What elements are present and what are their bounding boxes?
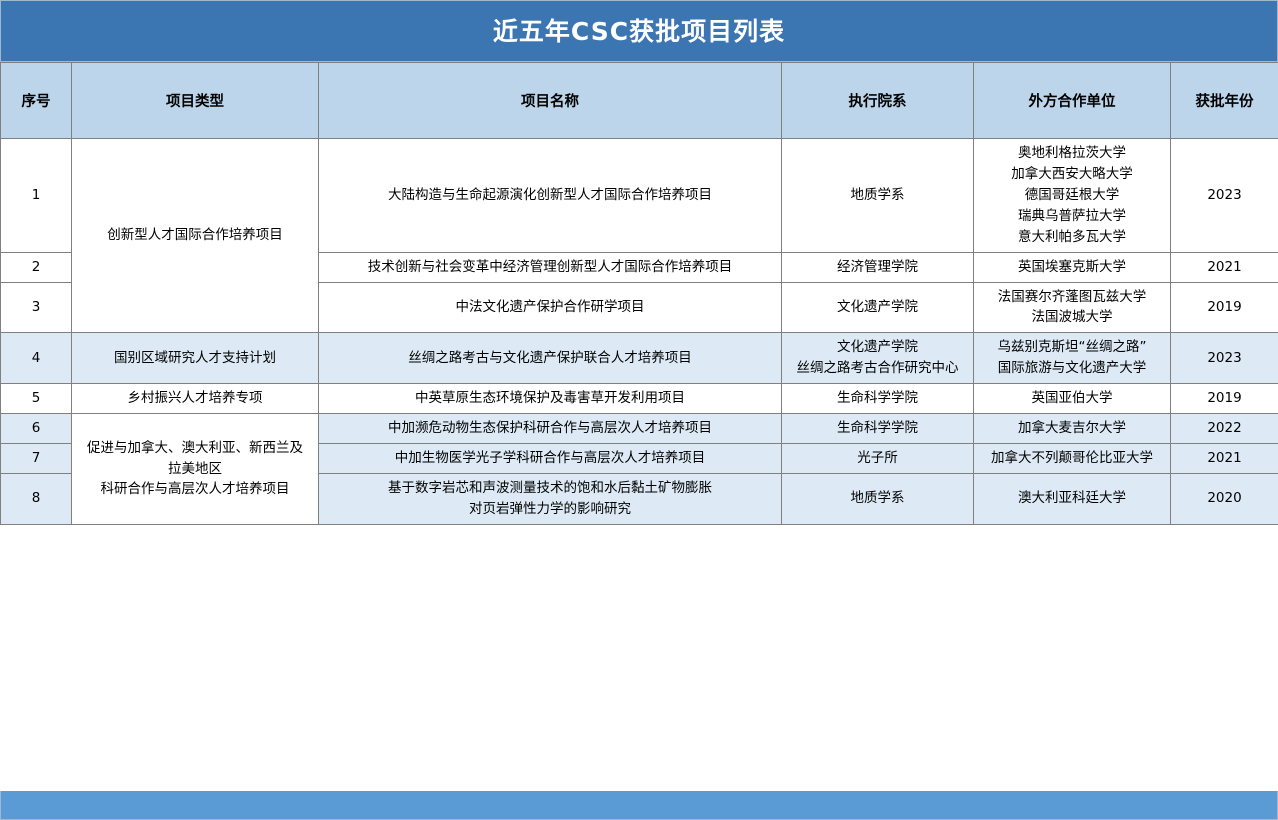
table-row: 1创新型人才国际合作培养项目大陆构造与生命起源演化创新型人才国际合作培养项目地质… (1, 139, 1278, 253)
cell-project-name-text: 中加濒危动物生态保护科研合作与高层次人才培养项目 (388, 420, 712, 436)
cell-partner: 法国赛尔齐蓬图瓦兹大学 法国波城大学 (974, 282, 1171, 333)
cell-department-text: 地质学系 (851, 490, 905, 506)
cell-year-text: 2023 (1207, 350, 1241, 366)
table-header: 序号 项目类型 项目名称 执行院系 外方合作单位 获批年份 (1, 63, 1278, 139)
cell-project-name: 大陆构造与生命起源演化创新型人才国际合作培养项目 (319, 139, 782, 253)
column-header-name: 项目名称 (319, 63, 782, 139)
cell-partner: 澳大利亚科廷大学 (974, 473, 1171, 524)
cell-project-name: 中加生物医学光子学科研合作与高层次人才培养项目 (319, 444, 782, 474)
cell-partner: 英国埃塞克斯大学 (974, 252, 1171, 282)
cell-project-name-text: 中加生物医学光子学科研合作与高层次人才培养项目 (395, 450, 706, 466)
cell-department-text: 生命科学学院 (837, 420, 918, 436)
cell-project-name-text: 中英草原生态环境保护及毒害草开发利用项目 (415, 390, 685, 406)
cell-partner: 乌兹别克斯坦“丝绸之路” 国际旅游与文化遗产大学 (974, 333, 1171, 384)
cell-department-text: 经济管理学院 (837, 259, 918, 275)
header-row: 序号 项目类型 项目名称 执行院系 外方合作单位 获批年份 (1, 63, 1278, 139)
cell-partner-text: 加拿大麦吉尔大学 (1018, 420, 1126, 436)
cell-year: 2020 (1171, 473, 1278, 524)
cell-year-text: 2019 (1207, 390, 1241, 406)
cell-year-text: 2021 (1207, 259, 1241, 275)
cell-index: 8 (1, 473, 72, 524)
cell-year-text: 2022 (1207, 420, 1241, 436)
cell-year: 2021 (1171, 252, 1278, 282)
cell-partner-text: 乌兹别克斯坦“丝绸之路” 国际旅游与文化遗产大学 (998, 339, 1147, 376)
cell-partner-text: 奥地利格拉茨大学 加拿大西安大略大学 德国哥廷根大学 瑞典乌普萨拉大学 意大利帕… (1011, 145, 1133, 245)
cell-year-text: 2021 (1207, 450, 1241, 466)
cell-project-name-text: 大陆构造与生命起源演化创新型人才国际合作培养项目 (388, 187, 712, 203)
document-title-bar: 近五年CSC获批项目列表 (0, 0, 1278, 62)
cell-index-text: 8 (32, 490, 41, 506)
cell-year: 2021 (1171, 444, 1278, 474)
cell-department: 生命科学学院 (782, 384, 974, 414)
cell-project-type-text: 创新型人才国际合作培养项目 (107, 227, 283, 243)
cell-index-text: 2 (32, 259, 41, 275)
table-row: 5乡村振兴人才培养专项中英草原生态环境保护及毒害草开发利用项目生命科学学院英国亚… (1, 384, 1278, 414)
cell-department: 文化遗产学院 丝绸之路考古合作研究中心 (782, 333, 974, 384)
cell-index-text: 3 (32, 299, 41, 315)
cell-project-name: 中法文化遗产保护合作研学项目 (319, 282, 782, 333)
project-list-document: 近五年CSC获批项目列表 序号 项目类型 项目名称 执行院系 外方合作单位 获批… (0, 0, 1278, 820)
cell-partner: 加拿大不列颠哥伦比亚大学 (974, 444, 1171, 474)
cell-project-name-text: 中法文化遗产保护合作研学项目 (456, 299, 645, 315)
cell-department-text: 地质学系 (851, 187, 905, 203)
cell-department: 地质学系 (782, 473, 974, 524)
cell-year: 2019 (1171, 282, 1278, 333)
cell-partner-text: 英国亚伯大学 (1032, 390, 1113, 406)
cell-project-type: 乡村振兴人才培养专项 (72, 384, 319, 414)
cell-year: 2023 (1171, 139, 1278, 253)
csc-projects-table: 序号 项目类型 项目名称 执行院系 外方合作单位 获批年份 1创新型人才国际合作… (0, 62, 1278, 525)
cell-department: 生命科学学院 (782, 414, 974, 444)
column-header-dept: 执行院系 (782, 63, 974, 139)
document-footer-bar (0, 791, 1278, 820)
column-header-year: 获批年份 (1171, 63, 1278, 139)
cell-project-type: 国别区域研究人才支持计划 (72, 333, 319, 384)
cell-project-type: 促进与加拿大、澳大利亚、新西兰及 拉美地区 科研合作与高层次人才培养项目 (72, 414, 319, 525)
cell-index-text: 7 (32, 450, 41, 466)
cell-partner-text: 法国赛尔齐蓬图瓦兹大学 法国波城大学 (998, 289, 1147, 326)
cell-index: 1 (1, 139, 72, 253)
cell-partner: 奥地利格拉茨大学 加拿大西安大略大学 德国哥廷根大学 瑞典乌普萨拉大学 意大利帕… (974, 139, 1171, 253)
cell-index: 4 (1, 333, 72, 384)
cell-year: 2019 (1171, 384, 1278, 414)
cell-project-name: 中英草原生态环境保护及毒害草开发利用项目 (319, 384, 782, 414)
cell-department: 文化遗产学院 (782, 282, 974, 333)
cell-project-name: 丝绸之路考古与文化遗产保护联合人才培养项目 (319, 333, 782, 384)
page-title: 近五年CSC获批项目列表 (493, 19, 785, 44)
cell-project-type: 创新型人才国际合作培养项目 (72, 139, 319, 333)
cell-index-text: 4 (32, 350, 41, 366)
cell-index: 7 (1, 444, 72, 474)
cell-index-text: 6 (32, 420, 41, 436)
cell-partner-text: 英国埃塞克斯大学 (1018, 259, 1126, 275)
cell-year-text: 2020 (1207, 490, 1241, 506)
table-row: 4国别区域研究人才支持计划丝绸之路考古与文化遗产保护联合人才培养项目文化遗产学院… (1, 333, 1278, 384)
table-body: 1创新型人才国际合作培养项目大陆构造与生命起源演化创新型人才国际合作培养项目地质… (1, 139, 1278, 525)
cell-department-text: 文化遗产学院 (837, 299, 918, 315)
cell-index: 2 (1, 252, 72, 282)
cell-project-name: 基于数字岩芯和声波测量技术的饱和水后黏土矿物膨胀 对页岩弹性力学的影响研究 (319, 473, 782, 524)
cell-index-text: 1 (32, 187, 41, 203)
cell-project-type-text: 国别区域研究人才支持计划 (114, 350, 276, 366)
cell-partner-text: 加拿大不列颠哥伦比亚大学 (991, 450, 1153, 466)
cell-year-text: 2023 (1207, 187, 1241, 203)
cell-partner: 加拿大麦吉尔大学 (974, 414, 1171, 444)
cell-department: 经济管理学院 (782, 252, 974, 282)
cell-year: 2022 (1171, 414, 1278, 444)
cell-index: 3 (1, 282, 72, 333)
cell-partner: 英国亚伯大学 (974, 384, 1171, 414)
cell-project-type-text: 乡村振兴人才培养专项 (128, 390, 263, 406)
cell-department: 地质学系 (782, 139, 974, 253)
cell-index: 5 (1, 384, 72, 414)
cell-department: 光子所 (782, 444, 974, 474)
cell-project-type-text: 促进与加拿大、澳大利亚、新西兰及 拉美地区 科研合作与高层次人才培养项目 (87, 440, 303, 498)
cell-department-text: 光子所 (857, 450, 898, 466)
cell-year-text: 2019 (1207, 299, 1241, 315)
column-header-partner: 外方合作单位 (974, 63, 1171, 139)
cell-project-name-text: 丝绸之路考古与文化遗产保护联合人才培养项目 (408, 350, 692, 366)
column-header-type: 项目类型 (72, 63, 319, 139)
cell-department-text: 文化遗产学院 丝绸之路考古合作研究中心 (797, 339, 959, 376)
column-header-num: 序号 (1, 63, 72, 139)
cell-partner-text: 澳大利亚科廷大学 (1018, 490, 1126, 506)
cell-index: 6 (1, 414, 72, 444)
cell-project-name-text: 技术创新与社会变革中经济管理创新型人才国际合作培养项目 (368, 259, 733, 275)
table-row: 6促进与加拿大、澳大利亚、新西兰及 拉美地区 科研合作与高层次人才培养项目中加濒… (1, 414, 1278, 444)
cell-project-name-text: 基于数字岩芯和声波测量技术的饱和水后黏土矿物膨胀 对页岩弹性力学的影响研究 (388, 480, 712, 517)
cell-project-name: 技术创新与社会变革中经济管理创新型人才国际合作培养项目 (319, 252, 782, 282)
cell-department-text: 生命科学学院 (837, 390, 918, 406)
cell-index-text: 5 (32, 390, 41, 406)
cell-year: 2023 (1171, 333, 1278, 384)
cell-project-name: 中加濒危动物生态保护科研合作与高层次人才培养项目 (319, 414, 782, 444)
